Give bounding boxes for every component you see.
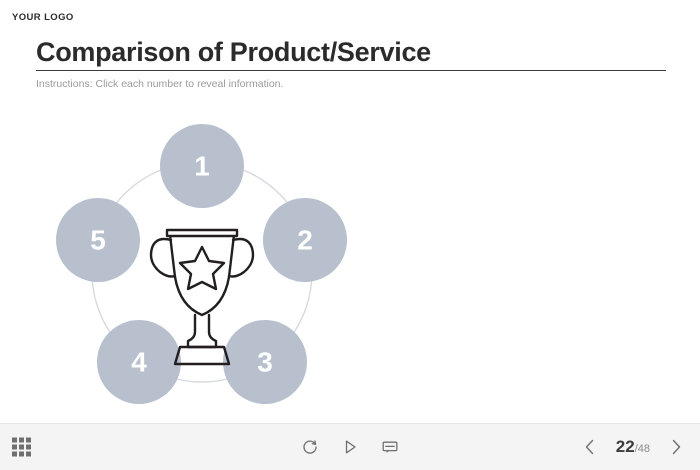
node-2-label: 2 [297,225,313,256]
node-5-label: 5 [90,225,106,256]
grid-cell [19,452,24,457]
node-1: 1 [160,124,244,208]
playback-controls [299,436,401,458]
page-indicator: 22/48 [616,437,650,457]
replay-icon[interactable] [299,436,321,458]
node-1-label: 1 [194,151,210,182]
node-3: 3 [223,320,307,404]
logo-text: YOUR LOGO [12,12,74,23]
current-page: 22 [616,437,635,457]
grid-menu-icon[interactable] [12,438,31,457]
grid-cell [26,445,31,450]
toolbar-left-group [12,438,31,457]
node-4-label: 4 [131,347,147,378]
grid-cell [12,445,17,450]
title-underline [36,70,666,71]
play-icon[interactable] [339,436,361,458]
player-toolbar: 22/48 [0,423,700,470]
chevron-right-icon[interactable] [666,435,686,459]
node-2: 2 [263,198,347,282]
grid-cell [19,445,24,450]
total-pages: /48 [635,443,650,455]
grid-cell [12,452,17,457]
node-3-label: 3 [257,347,273,378]
instructions-text: Instructions: Click each number to revea… [36,78,283,90]
pagination-controls: 22/48 [580,435,686,459]
node-4: 4 [97,320,181,404]
grid-cell [19,438,24,443]
grid-cell [26,452,31,457]
node-5: 5 [56,198,140,282]
grid-cell [12,438,17,443]
chevron-left-icon[interactable] [580,435,600,459]
page-title: Comparison of Product/Service [36,38,431,66]
grid-cell [26,438,31,443]
circle-diagram: 5 4 3 2 1 [40,110,370,410]
slide-canvas: YOUR LOGO Comparison of Product/Service … [0,0,700,470]
speech-bubble-icon[interactable] [379,436,401,458]
